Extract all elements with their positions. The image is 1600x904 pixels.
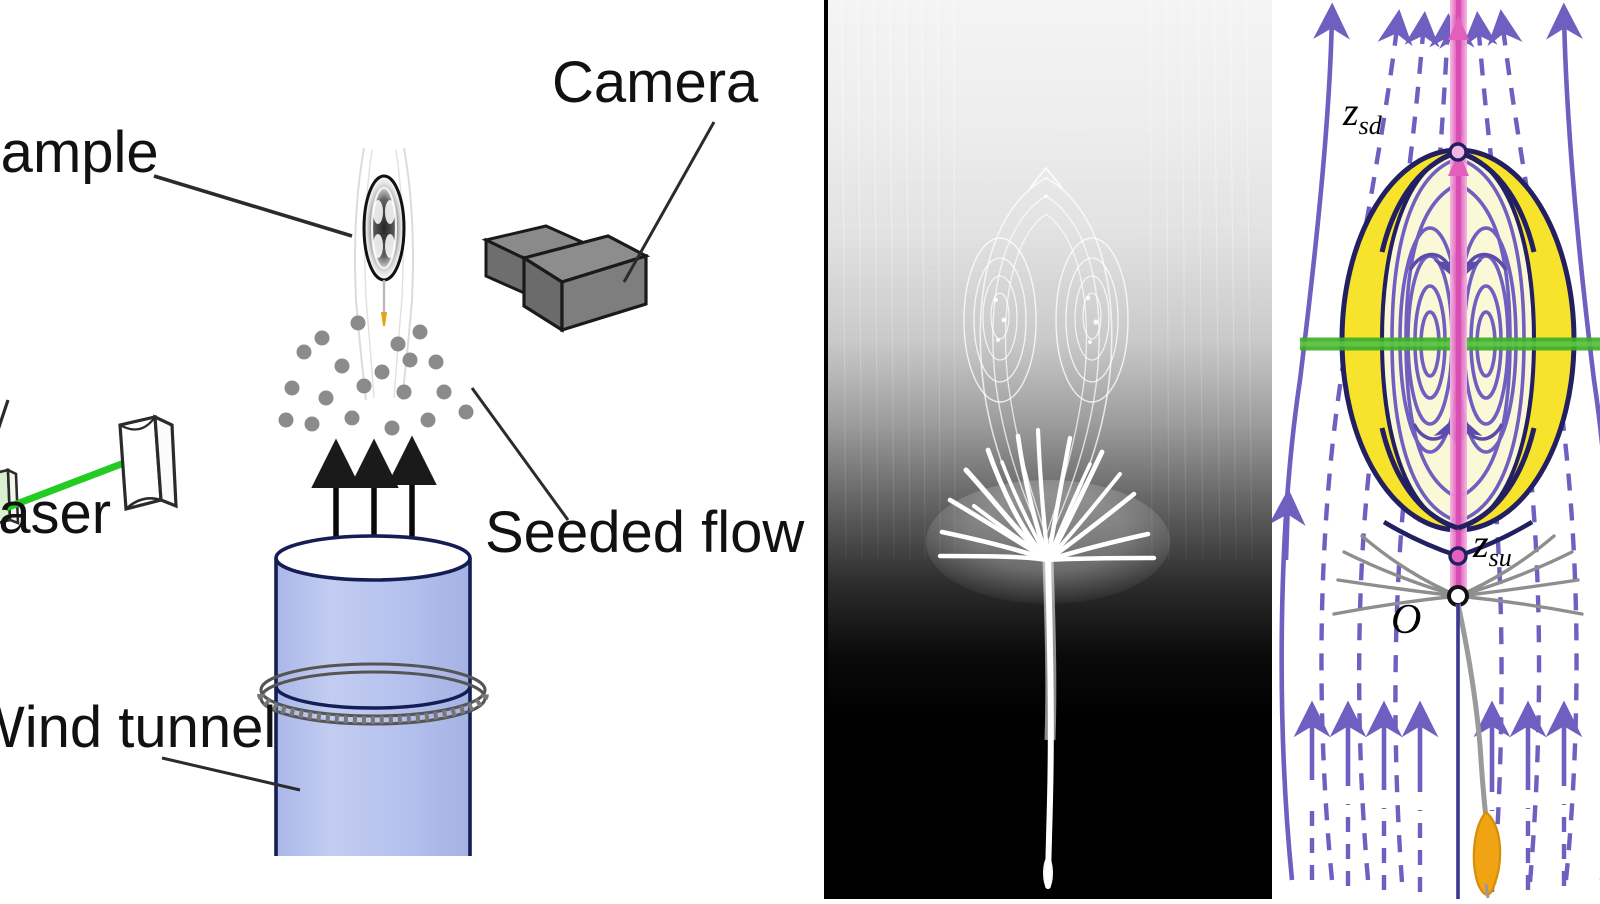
piv-streak-overlay (824, 0, 1272, 899)
panel-experimental-setup: Sample Laser Wind tunnel Camera Seeded f… (0, 0, 824, 899)
panel-piv-photograph (824, 0, 1272, 899)
leader-line-camera (624, 122, 714, 282)
achene-icon (1474, 812, 1500, 895)
seeding-particles-icon (279, 316, 474, 436)
far-field-streamline-left-arrow-mid (1286, 500, 1288, 560)
label-laser: Laser (0, 486, 111, 543)
label-seeded-flow: Seeded flow (485, 505, 745, 562)
z-sd-base: z (1343, 89, 1359, 134)
cylindrical-lens-icon (120, 417, 176, 509)
upper-stagnation-point (1450, 144, 1466, 160)
seed-stem (1458, 604, 1486, 818)
flow-arrows-icon (336, 452, 412, 540)
origin-point (1449, 587, 1467, 605)
z-su-subscript: su (1489, 543, 1512, 572)
vortex-schematic-svg (1272, 0, 1600, 899)
panel-b-left-border (824, 0, 828, 899)
leader-line-sample (154, 176, 352, 236)
z-sd-subscript: sd (1359, 111, 1382, 140)
achene-tip (1486, 884, 1488, 898)
panel-vortex-ring-schematic: zsd zsu O (1272, 0, 1600, 899)
leader-line-laser (0, 400, 8, 472)
wind-tunnel-icon (261, 536, 485, 856)
incoming-flow-dashes (1312, 800, 1564, 892)
label-camera: Camera (552, 55, 758, 112)
label-z-su: zsu (1473, 520, 1512, 573)
far-field-streamline-right (1564, 14, 1600, 880)
label-z-sd: zsd (1343, 88, 1382, 141)
label-sample: Sample (0, 125, 159, 182)
label-wind-tunnel: Wind tunnel (0, 700, 270, 757)
incoming-flow-arrows (1312, 712, 1564, 792)
label-origin: O (1391, 596, 1421, 644)
figure-root: Sample Laser Wind tunnel Camera Seeded f… (0, 0, 1600, 899)
camera-icon (486, 226, 646, 330)
z-su-base: z (1473, 521, 1489, 566)
lower-stagnation-point (1450, 548, 1466, 564)
